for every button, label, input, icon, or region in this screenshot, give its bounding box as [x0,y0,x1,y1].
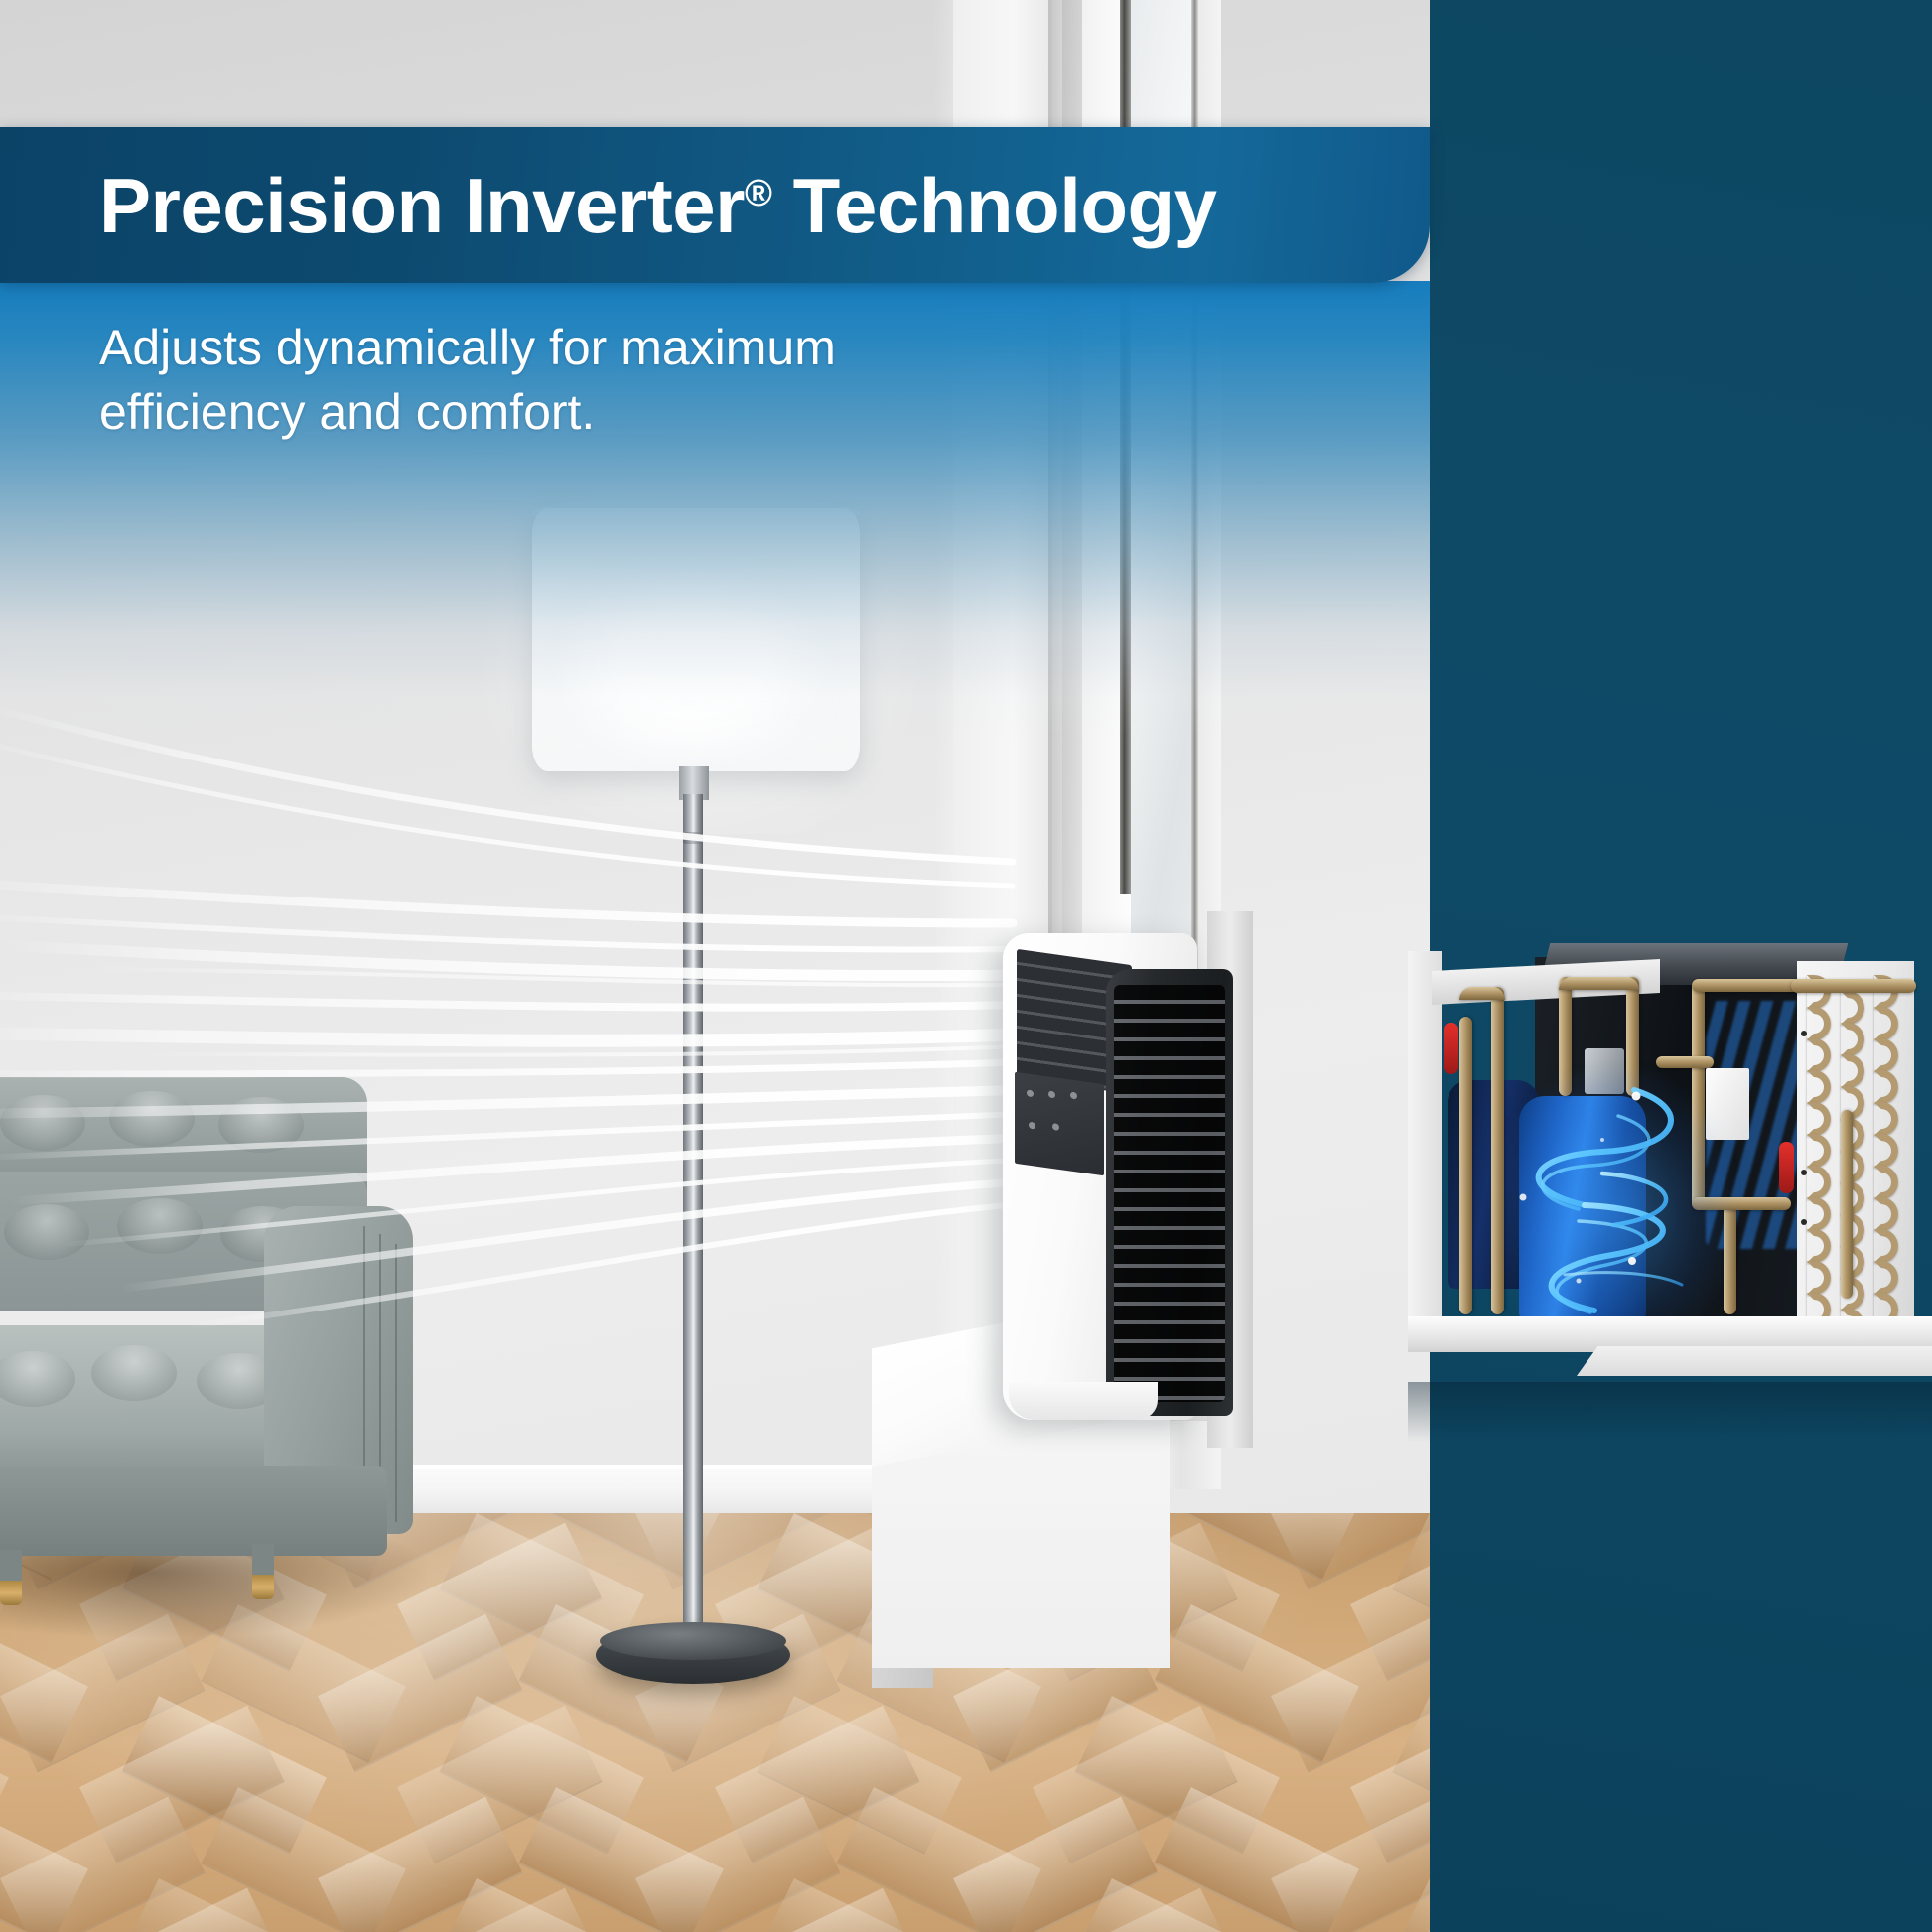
ac-indicator-dot [1048,1090,1055,1098]
title-banner: Precision Inverter® Technology [0,127,1430,283]
condenser-base-lip [1577,1346,1932,1376]
coil-u-bend [1807,1229,1831,1263]
copper-pipe-header [1791,979,1916,993]
coil-u-bend [1874,1166,1898,1199]
refrigerant-swirl [1507,1070,1725,1338]
sofa-tuft [91,1345,177,1401]
coil-u-bend [1807,1261,1831,1295]
copper-pipe-bend [1559,977,1639,990]
coil-u-bend [1874,1134,1898,1168]
coil-distributor-tube [1841,1110,1853,1299]
sofa-tuft [0,1095,85,1151]
sofa-base [0,1466,387,1556]
coil-mount-hole [1801,1170,1807,1175]
service-valve-cap [1444,1023,1458,1074]
condenser-left-bracket [1408,951,1442,1348]
page-title: Precision Inverter® Technology [0,167,1217,244]
sofa-tuft [117,1198,203,1254]
coil-u-bend [1807,1070,1831,1104]
coil-u-bend [1874,1007,1898,1040]
sofa-leg [0,1550,22,1605]
title-text-main: Precision Inverter [99,162,745,249]
coil-u-bend [1841,1054,1864,1088]
coil-u-bend [1874,1070,1898,1104]
coil-u-bend [1841,1023,1864,1056]
ac-bottom-lip [1009,1382,1158,1420]
sofa-tuft [4,1204,89,1260]
coil-u-bend [1874,1197,1898,1231]
registered-trademark-icon: ® [745,173,772,214]
ac-indicator-dot [1029,1122,1035,1130]
condenser-coil-panel [1797,961,1914,1330]
sofa-leg [252,1544,274,1599]
coil-u-bend [1874,1038,1898,1072]
sofa-tuft [218,1097,304,1153]
indoor-air-conditioner [1003,933,1236,1420]
copper-pipe [1459,1017,1472,1314]
coil-u-bend [1874,1229,1898,1263]
coil-mount-hole [1801,1219,1807,1225]
sofa-arm-seam [395,1244,397,1522]
ac-indicator-dot [1027,1089,1034,1097]
lamp-switch-knob[interactable] [683,832,703,844]
ac-indicator-dot [1052,1123,1059,1131]
sofa [0,1077,437,1593]
outdoor-condenser-unit [1408,921,1932,1388]
coil-u-bend [1841,991,1864,1025]
ac-indicator-dot [1070,1092,1077,1100]
coil-u-bend [1874,1261,1898,1295]
coil-u-bend [1807,1102,1831,1136]
condenser-drop-shadow [1408,1382,1932,1442]
coil-u-bend [1807,1134,1831,1168]
copper-pipe [1692,979,1801,992]
coil-u-bend [1807,1038,1831,1072]
coil-u-bend [1807,1197,1831,1231]
coil-u-bend [1874,1102,1898,1136]
service-valve-cap [1779,1142,1794,1193]
coil-u-bend [1807,1007,1831,1040]
coil-u-bend [1807,1166,1831,1199]
lamp-base-top [600,1622,786,1660]
subtitle: Adjusts dynamically for maximum efficien… [99,316,913,445]
product-feature-image: Precision Inverter® Technology Adjusts d… [0,0,1932,1932]
ac-vent-grille [1114,985,1225,1402]
copper-pipe-bend [1459,987,1505,1000]
copper-pipe [1656,1056,1714,1068]
subtitle-line-2: efficiency and comfort. [99,380,913,445]
lamp-pole [683,794,703,1658]
subtitle-line-1: Adjusts dynamically for maximum [99,316,913,380]
coil-mount-hole [1801,1031,1807,1036]
sofa-tuft [109,1091,195,1147]
ac-control-panel[interactable] [1015,1072,1104,1176]
title-text-tail: Technology [771,162,1216,249]
